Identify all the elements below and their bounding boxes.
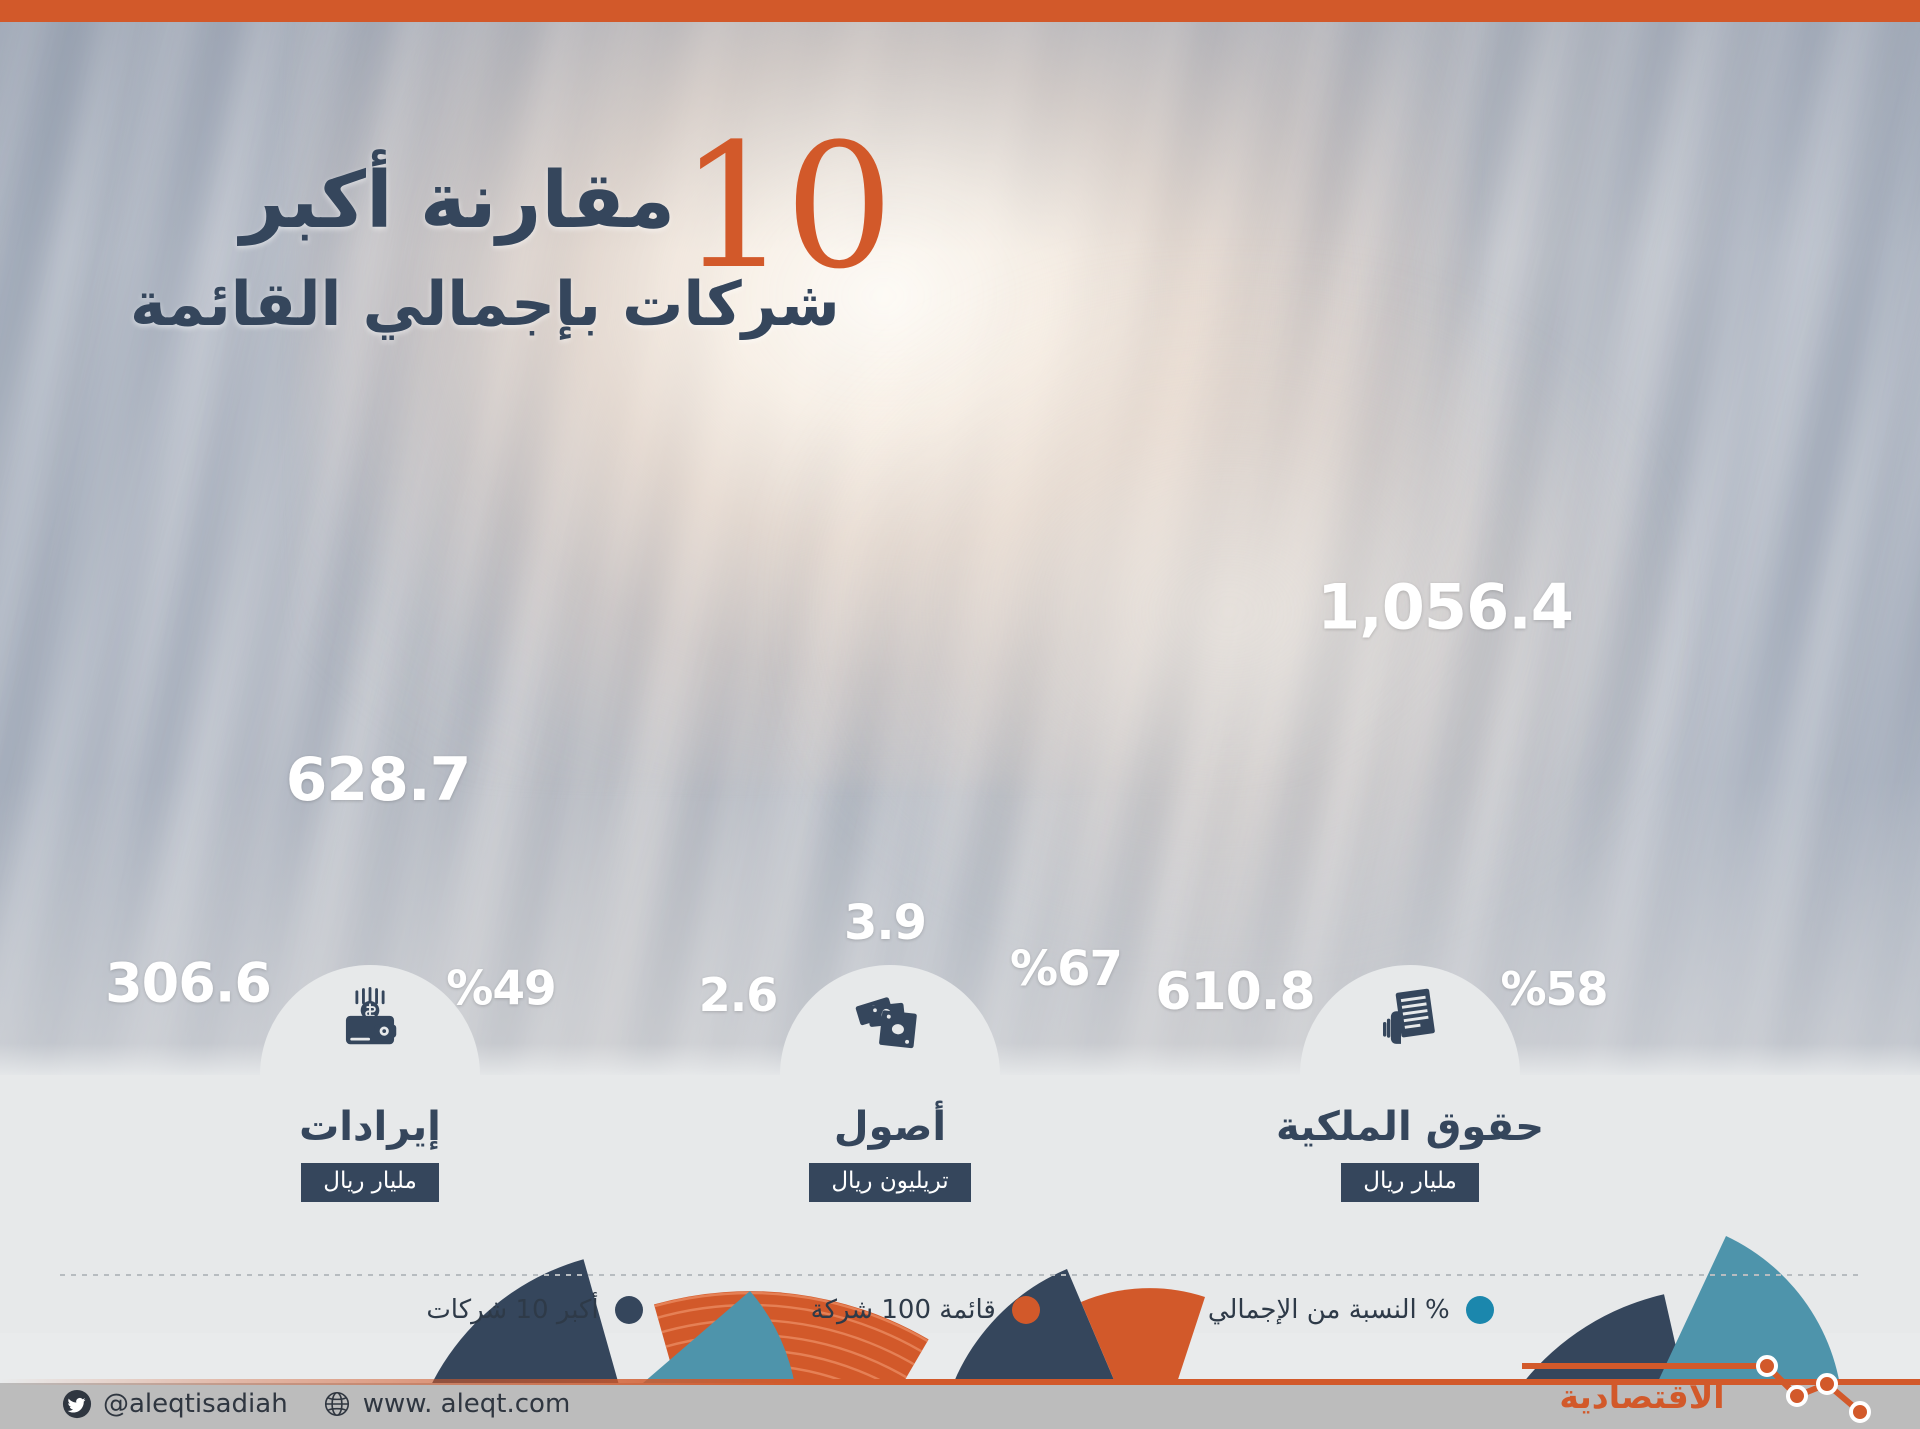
brand-logo[interactable]: الاقتصادية	[1522, 1346, 1872, 1429]
footer-links: @aleqtisadiah www. aleqt.com	[62, 1389, 570, 1419]
legend-divider	[60, 1274, 1860, 1276]
title-text-1: مقارنة أكبر	[240, 162, 675, 240]
infographic-canvas: 10 مقارنة أكبر شركات بإجمالي القائمة	[0, 0, 1920, 1429]
value-assets-list100: 3.9	[844, 895, 926, 951]
caption-revenues-unit: مليار ريال	[301, 1163, 439, 1202]
legend-dot-percent	[1466, 1296, 1494, 1324]
website-url: www. aleqt.com	[363, 1389, 571, 1419]
brand-text: الاقتصادية	[1559, 1377, 1724, 1416]
caption-equity-unit: مليار ريال	[1341, 1163, 1479, 1202]
top-accent-bar	[0, 0, 1920, 22]
value-revenues-list100: 628.7	[286, 745, 471, 815]
legend-item-list100[interactable]: قائمة 100 شركة	[811, 1295, 1040, 1325]
caption-assets-unit: تريليون ريال	[809, 1163, 970, 1202]
value-assets-percent: %67	[1010, 941, 1122, 997]
twitter-handle: @aleqtisadiah	[103, 1389, 288, 1419]
twitter-link[interactable]: @aleqtisadiah	[62, 1389, 288, 1419]
globe-icon	[322, 1389, 352, 1419]
document-hand-icon	[1373, 981, 1447, 1055]
caption-equity-label: حقوق الملكية	[1200, 1105, 1620, 1149]
page-title: 10 مقارنة أكبر شركات بإجمالي القائمة	[130, 130, 890, 337]
legend-dot-top10	[615, 1296, 643, 1324]
legend-label-top10: أكبر 10 شركات	[426, 1295, 598, 1325]
title-line-1: 10 مقارنة أكبر	[130, 130, 890, 271]
caption-equity: حقوق الملكية مليار ريال	[1200, 1105, 1620, 1202]
legend-dot-list100	[1012, 1296, 1040, 1324]
value-revenues-percent: %49	[446, 962, 556, 1017]
value-assets-top10: 2.6	[699, 968, 778, 1022]
legend-label-percent: % النسبة من الإجمالي	[1208, 1295, 1450, 1325]
value-revenues-top10: 306.6	[105, 952, 271, 1015]
legend-item-percent[interactable]: % النسبة من الإجمالي	[1208, 1295, 1494, 1325]
twitter-icon	[62, 1389, 92, 1419]
caption-revenues-label: إيرادات	[160, 1105, 580, 1149]
value-equity-percent: %58	[1500, 962, 1607, 1016]
legend: % النسبة من الإجمالي قائمة 100 شركة أكبر…	[0, 1286, 1920, 1334]
wallet-icon	[333, 981, 407, 1055]
caption-assets-label: أصول	[680, 1105, 1100, 1149]
value-equity-top10: 610.8	[1155, 962, 1314, 1022]
value-equity-list100: 1,056.4	[1317, 571, 1573, 644]
banknotes-icon	[853, 981, 927, 1055]
website-link[interactable]: www. aleqt.com	[322, 1389, 571, 1419]
legend-item-top10[interactable]: أكبر 10 شركات	[426, 1295, 642, 1325]
legend-label-list100: قائمة 100 شركة	[811, 1295, 996, 1325]
title-number: 10	[679, 136, 890, 277]
caption-revenues: إيرادات مليار ريال	[160, 1105, 580, 1202]
caption-assets: أصول تريليون ريال	[680, 1105, 1100, 1202]
